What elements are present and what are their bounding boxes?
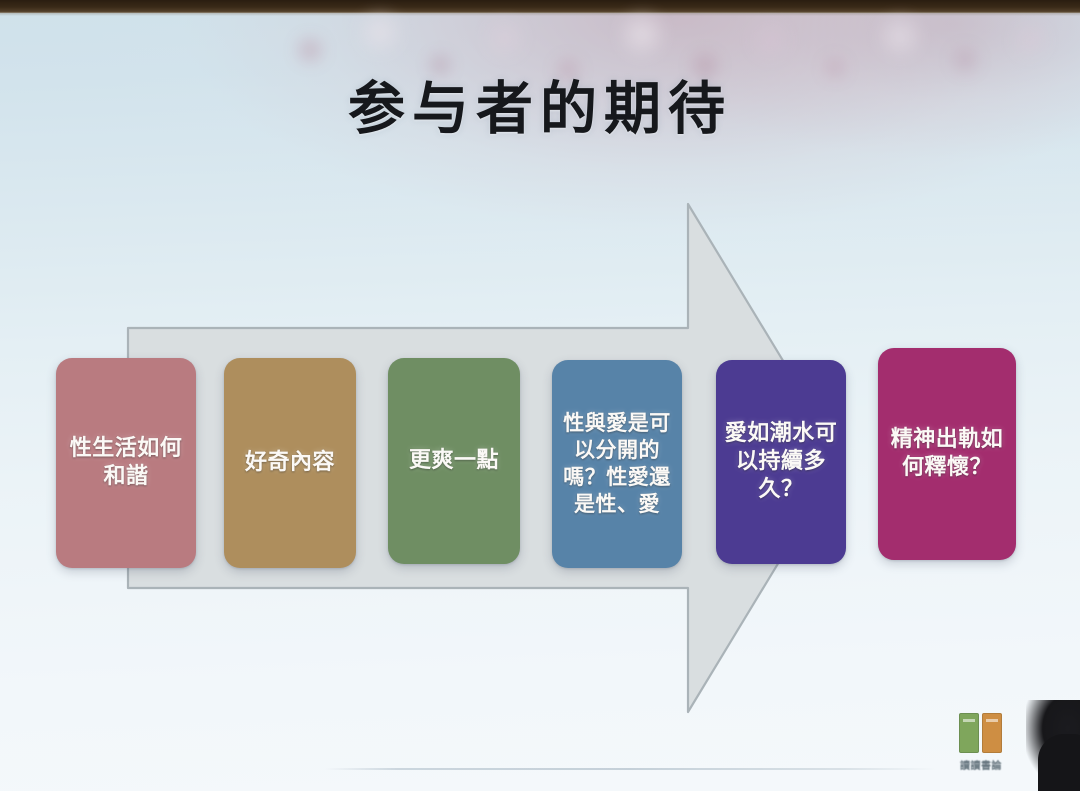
expectation-box-2[interactable]: 好奇內容 [224, 358, 356, 568]
presentation-slide: 参与者的期待 性生活如何和諧 好奇內容 更爽一點 性與愛是可以分開的嗎？性愛還是… [0, 0, 1080, 791]
expectation-box-3-label: 更爽一點 [409, 447, 499, 475]
organization-logo: 讀讀書論 [945, 713, 1017, 779]
expectation-box-5[interactable]: 愛如潮水可以持續多久？ [716, 360, 846, 564]
expectation-box-4-label: 性與愛是可以分開的嗎？性愛還是性、愛 [560, 410, 674, 518]
projector-top-band [0, 0, 1080, 13]
expectation-box-3[interactable]: 更爽一點 [388, 358, 520, 564]
audience-silhouette [1026, 700, 1080, 791]
page-title: 参与者的期待 [0, 63, 1080, 145]
expectation-box-1[interactable]: 性生活如何和諧 [56, 358, 196, 568]
logo-wordmark: 讀讀書論 [945, 757, 1017, 772]
expectation-box-2-label: 好奇內容 [245, 449, 335, 477]
books-icon [955, 713, 1007, 753]
expectation-box-5-label: 愛如潮水可以持續多久？ [724, 420, 838, 504]
expectation-box-6[interactable]: 精神出軌如何釋懷？ [878, 348, 1016, 560]
expectation-box-6-label: 精神出軌如何釋懷？ [886, 426, 1008, 482]
wall-seam-line [325, 768, 935, 770]
expectation-box-1-label: 性生活如何和諧 [64, 435, 188, 491]
expectation-box-4[interactable]: 性與愛是可以分開的嗎？性愛還是性、愛 [552, 360, 682, 568]
book-green-icon [959, 713, 979, 753]
book-orange-icon [982, 713, 1002, 753]
